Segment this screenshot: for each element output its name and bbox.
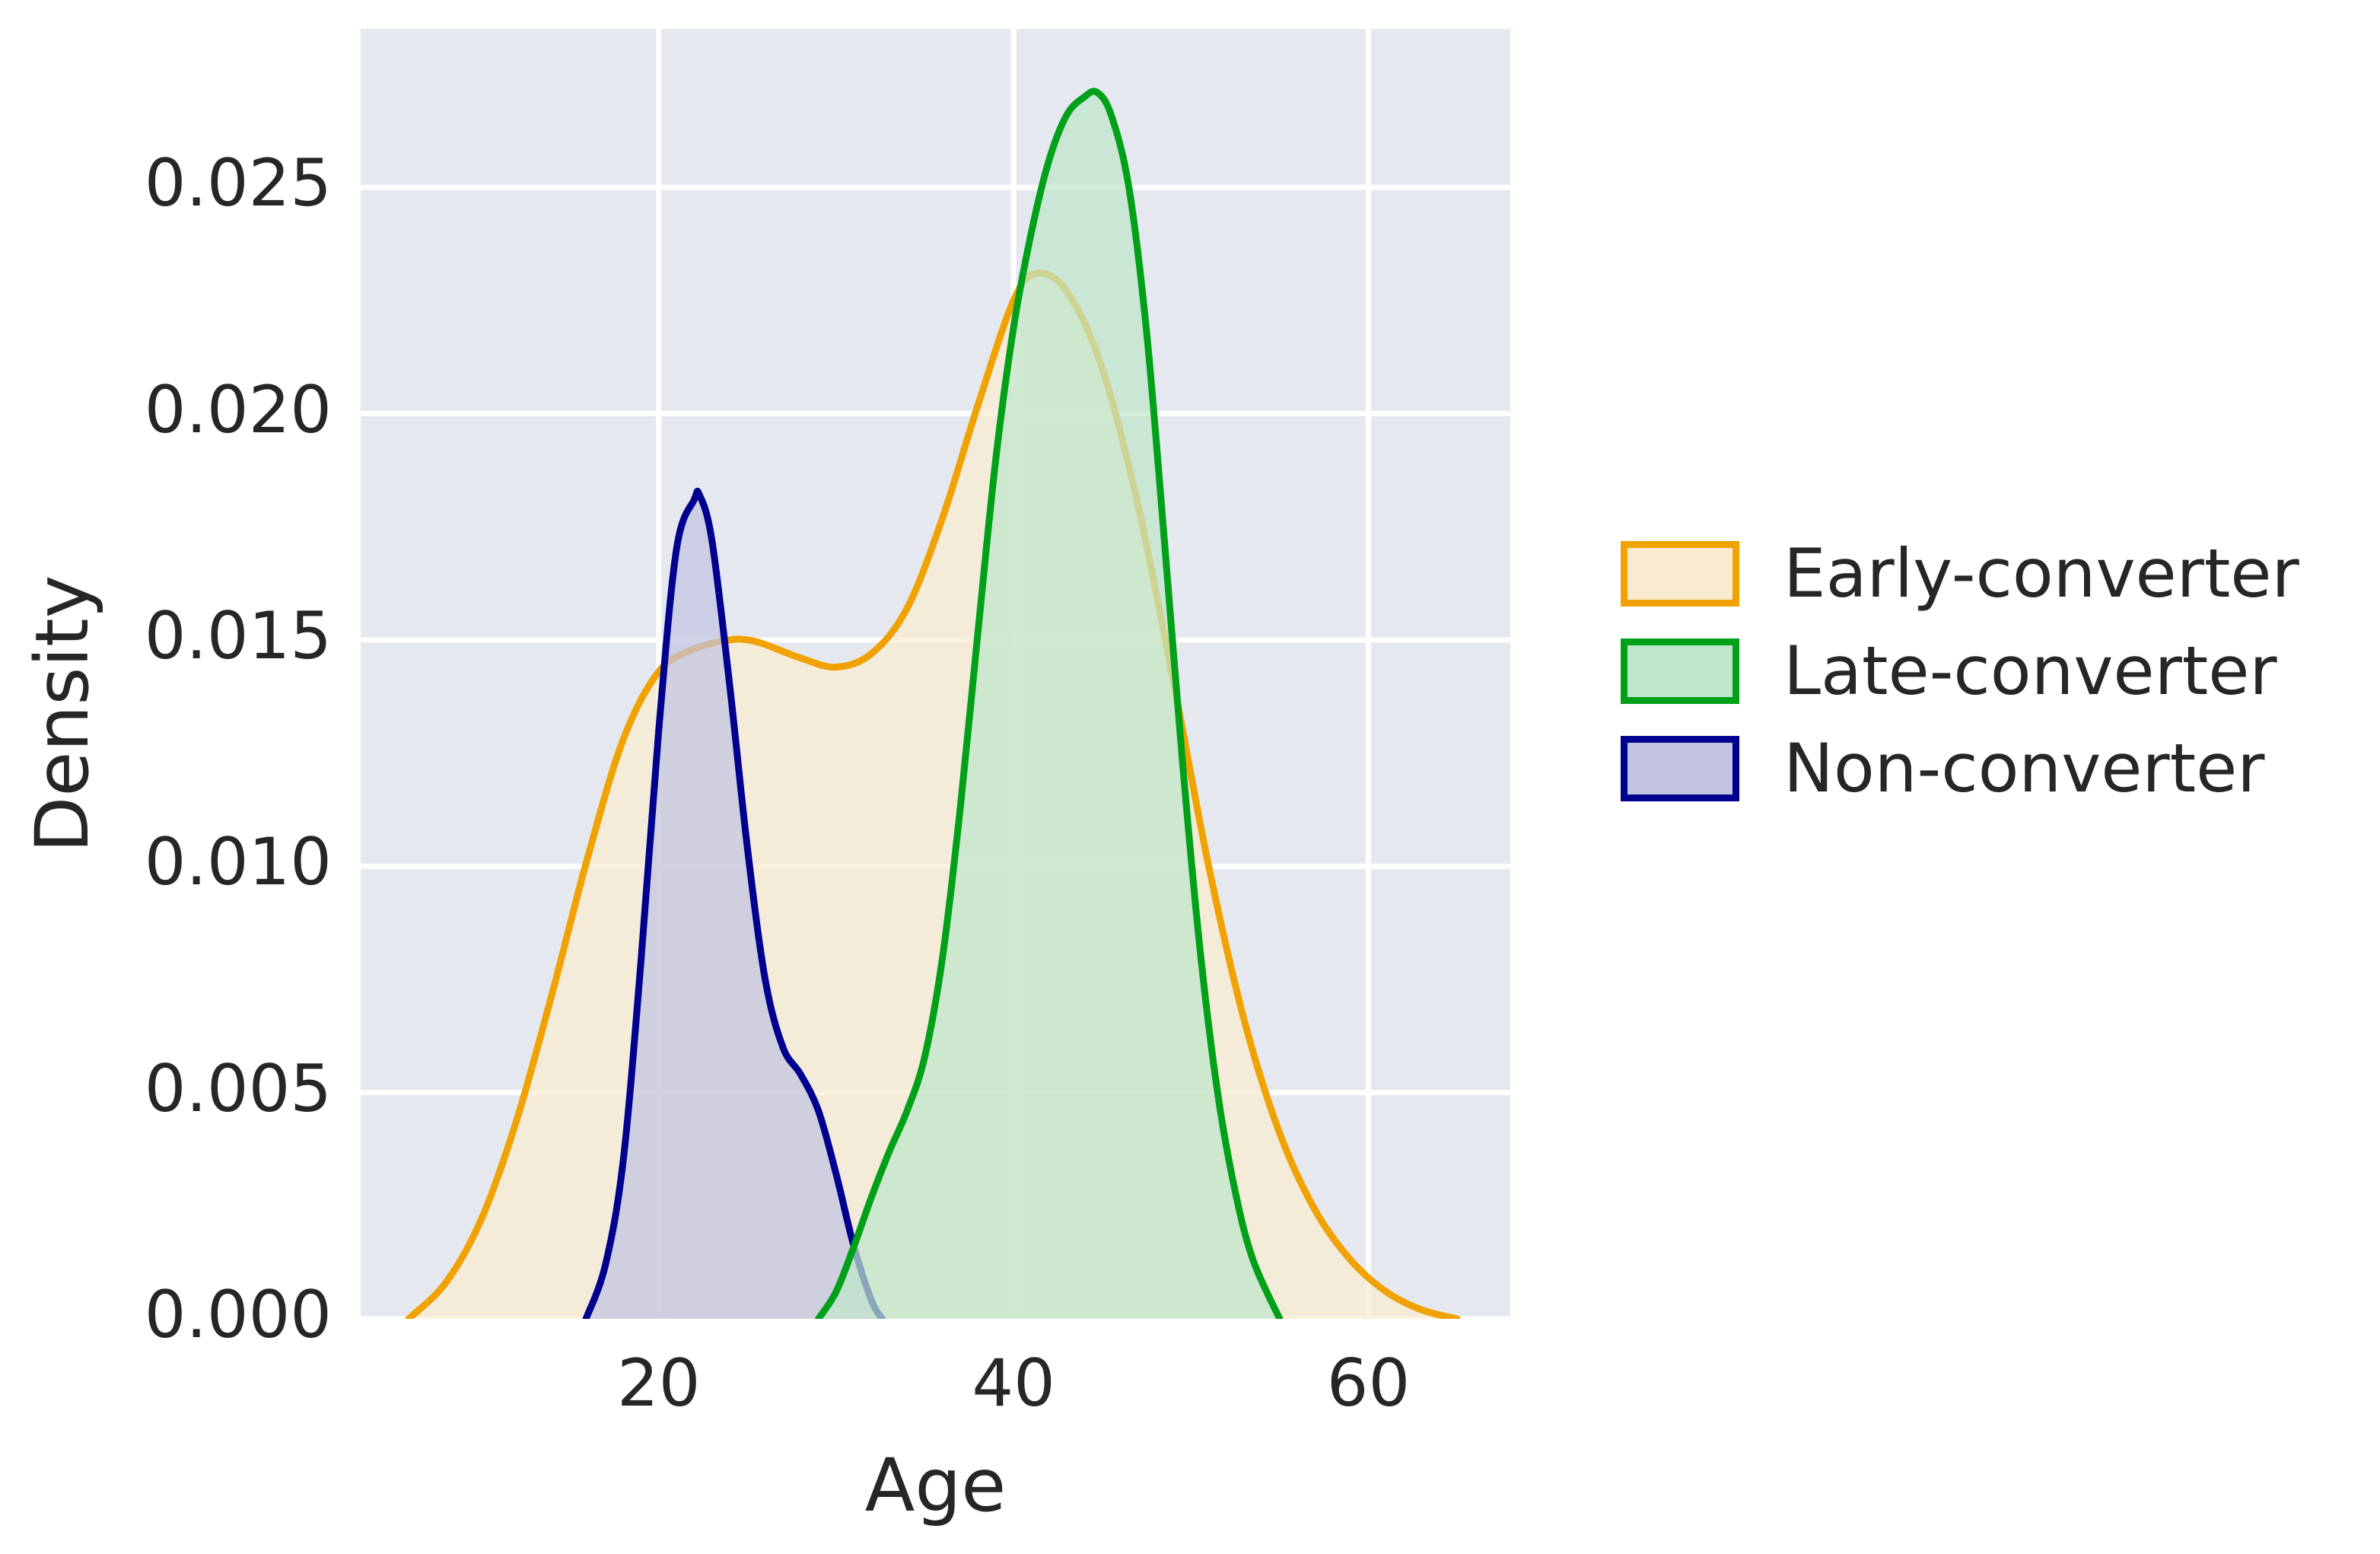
legend-label: Late-converter <box>1783 638 2277 705</box>
y-tick-text: 0.010 <box>145 830 332 895</box>
y-tick-label: 0.025 <box>0 151 332 216</box>
x-tick-label: 40 <box>915 1345 1112 1422</box>
legend-label: Non-converter <box>1783 735 2264 802</box>
density-curves <box>361 29 1510 1319</box>
y-axis-title: Density <box>23 409 102 1018</box>
y-tick-text: 0.020 <box>145 377 332 443</box>
x-axis-title: Age <box>361 1446 1510 1525</box>
y-tick-text: 0.005 <box>145 1056 332 1122</box>
y-tick-text: 0.015 <box>145 603 332 669</box>
y-tick-text: 0.025 <box>145 151 332 216</box>
legend-swatch <box>1621 736 1739 801</box>
plot-area <box>361 29 1510 1319</box>
legend: Early-converterLate-converterNon-convert… <box>1621 525 2299 817</box>
x-tick-text: 60 <box>1327 1345 1410 1422</box>
y-tick-label: 0.005 <box>0 1056 332 1122</box>
legend-swatch <box>1621 638 1739 704</box>
legend-item-non-converter[interactable]: Non-converter <box>1621 720 2299 817</box>
legend-item-early-converter[interactable]: Early-converter <box>1621 525 2299 623</box>
legend-swatch <box>1621 541 1739 607</box>
y-tick-label: 0.000 <box>0 1282 332 1348</box>
kde-density-figure: 0.0250.0200.0150.0100.0050.000 204060 Ag… <box>0 0 2380 1554</box>
x-tick-label: 60 <box>1269 1345 1467 1422</box>
y-tick-text: 0.000 <box>145 1282 332 1348</box>
legend-label: Early-converter <box>1783 540 2299 607</box>
x-tick-text: 20 <box>617 1345 700 1422</box>
x-tick-text: 40 <box>972 1345 1055 1422</box>
x-tick-label: 20 <box>560 1345 758 1422</box>
legend-item-late-converter[interactable]: Late-converter <box>1621 623 2299 720</box>
